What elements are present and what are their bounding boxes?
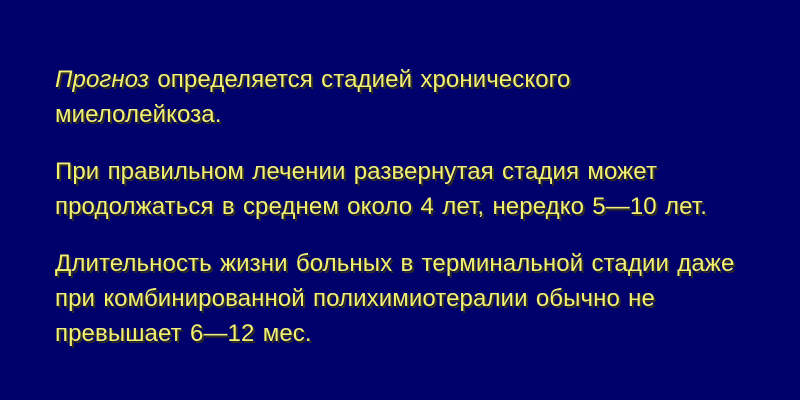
slide-canvas: Прогноз определяется стадией хроническог…	[0, 0, 800, 400]
slide-paragraph-prognosis-stage: Прогноз определяется стадией хроническог…	[55, 62, 675, 132]
emphasized-lead-word: Прогноз	[55, 66, 149, 93]
slide-text-body: Прогноз определяется стадией хроническог…	[55, 62, 770, 351]
slide-paragraph-terminal-stage-duration: Длительность жизни больных в терминально…	[55, 246, 770, 351]
slide-paragraph-expanded-stage-duration: При правильном лечении развернутая стади…	[55, 154, 755, 224]
